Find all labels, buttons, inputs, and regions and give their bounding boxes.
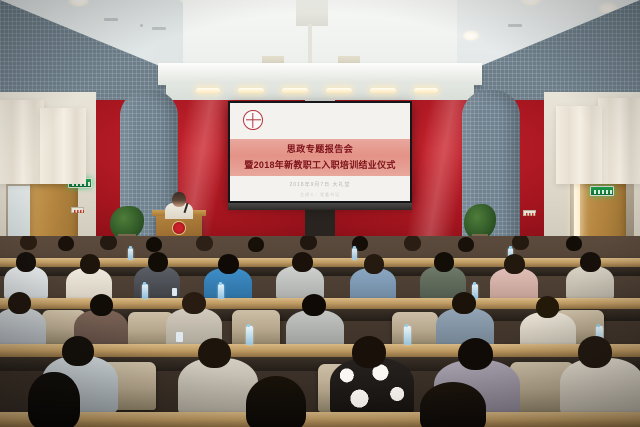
- ceiling-air-vent: [508, 24, 522, 27]
- audience-chair: [232, 310, 280, 346]
- wall-curtain-right: [598, 98, 640, 184]
- audience-head: [196, 236, 213, 251]
- ceiling-projector: [296, 0, 328, 26]
- audience-head: [292, 252, 313, 272]
- soffit-strip-light: [326, 88, 352, 93]
- audience-head: [434, 252, 454, 272]
- audience-seating: [0, 236, 640, 427]
- audience-head: [62, 336, 94, 366]
- presenter-head: [172, 192, 186, 207]
- slide-title-line2: 暨2018年新教职工入职培训结业仪式: [230, 158, 410, 171]
- audience-person: [0, 308, 46, 348]
- audience-chair: [392, 312, 438, 346]
- audience-head: [458, 237, 474, 252]
- slide-subtitle: 2018年9月7日 大礼堂: [230, 181, 410, 188]
- audience-head: [148, 252, 168, 272]
- soffit-strip-light: [370, 88, 396, 93]
- audience-head: [80, 254, 100, 274]
- audience-head: [302, 294, 326, 316]
- emergency-exit-sign: [590, 186, 614, 196]
- ceiling-sprinkler: [140, 24, 143, 27]
- audience-head: [566, 236, 582, 251]
- fire-notice-sign: [523, 210, 536, 216]
- audience-head: [300, 236, 317, 250]
- ceiling-air-vent: [104, 18, 118, 21]
- mobile-phone: [176, 332, 183, 342]
- wall-curtain-left: [40, 108, 86, 184]
- screen-bottom-bar: [228, 203, 412, 210]
- ceiling-downlight: [462, 30, 480, 41]
- soffit-strip-light: [414, 88, 438, 93]
- audience-head: [218, 254, 239, 274]
- audience-head: [8, 292, 31, 314]
- wall-curtain-left: [0, 100, 44, 184]
- wall-curtain-right: [556, 106, 602, 184]
- fire-notice-sign: [71, 207, 84, 213]
- projection-screen: 思政专题报告会 暨2018年新教职工入职培训结业仪式 2018年9月7日 大礼堂…: [228, 101, 412, 203]
- ceiling-air-vent: [152, 27, 166, 30]
- water-bottle: [218, 284, 224, 299]
- audience-head: [20, 236, 37, 250]
- audience-head: [404, 236, 421, 251]
- soffit-strip-light: [238, 88, 264, 93]
- audience-head: [16, 252, 36, 272]
- audience-head: [458, 338, 493, 370]
- mobile-phone: [172, 288, 177, 296]
- water-bottle: [352, 248, 357, 260]
- audience-head: [536, 296, 559, 318]
- audience-head-foreground: [28, 372, 80, 427]
- soffit-strip-light: [282, 88, 308, 93]
- slide-surface: 思政专题报告会 暨2018年新教职工入职培训结业仪式 2018年9月7日 大礼堂…: [230, 103, 410, 201]
- audience-head: [452, 292, 476, 314]
- audience-head: [146, 237, 162, 252]
- slide-footer: 主讲人：党委书记: [230, 192, 410, 198]
- slide-title-line1: 思政专题报告会: [230, 142, 410, 155]
- audience-desk: [0, 344, 640, 357]
- audience-head: [352, 336, 386, 368]
- water-bottle: [128, 248, 133, 260]
- water-bottle: [404, 326, 411, 345]
- audience-head-foreground: [246, 376, 306, 427]
- audience-desk: [0, 412, 640, 427]
- audience-head: [512, 236, 529, 250]
- audience-head: [182, 292, 206, 314]
- audience-head: [578, 336, 612, 368]
- audience-head: [90, 294, 113, 316]
- soffit-strip-light: [196, 88, 220, 93]
- soffit-lip: [158, 63, 482, 85]
- audience-head: [58, 236, 74, 251]
- water-bottle: [246, 326, 253, 345]
- audience-head-foreground: [420, 382, 486, 427]
- audience-head: [364, 254, 384, 274]
- audience-head: [580, 252, 601, 272]
- university-crest-icon: [243, 110, 263, 130]
- audience-head: [248, 237, 264, 252]
- audience-head: [198, 338, 231, 368]
- school-crest-emblem: [172, 221, 186, 235]
- audience-head: [504, 254, 525, 274]
- water-bottle: [142, 284, 148, 299]
- audience-head: [100, 236, 117, 250]
- lecture-hall-photo: 思政专题报告会 暨2018年新教职工入职培训结业仪式 2018年9月7日 大礼堂…: [0, 0, 640, 427]
